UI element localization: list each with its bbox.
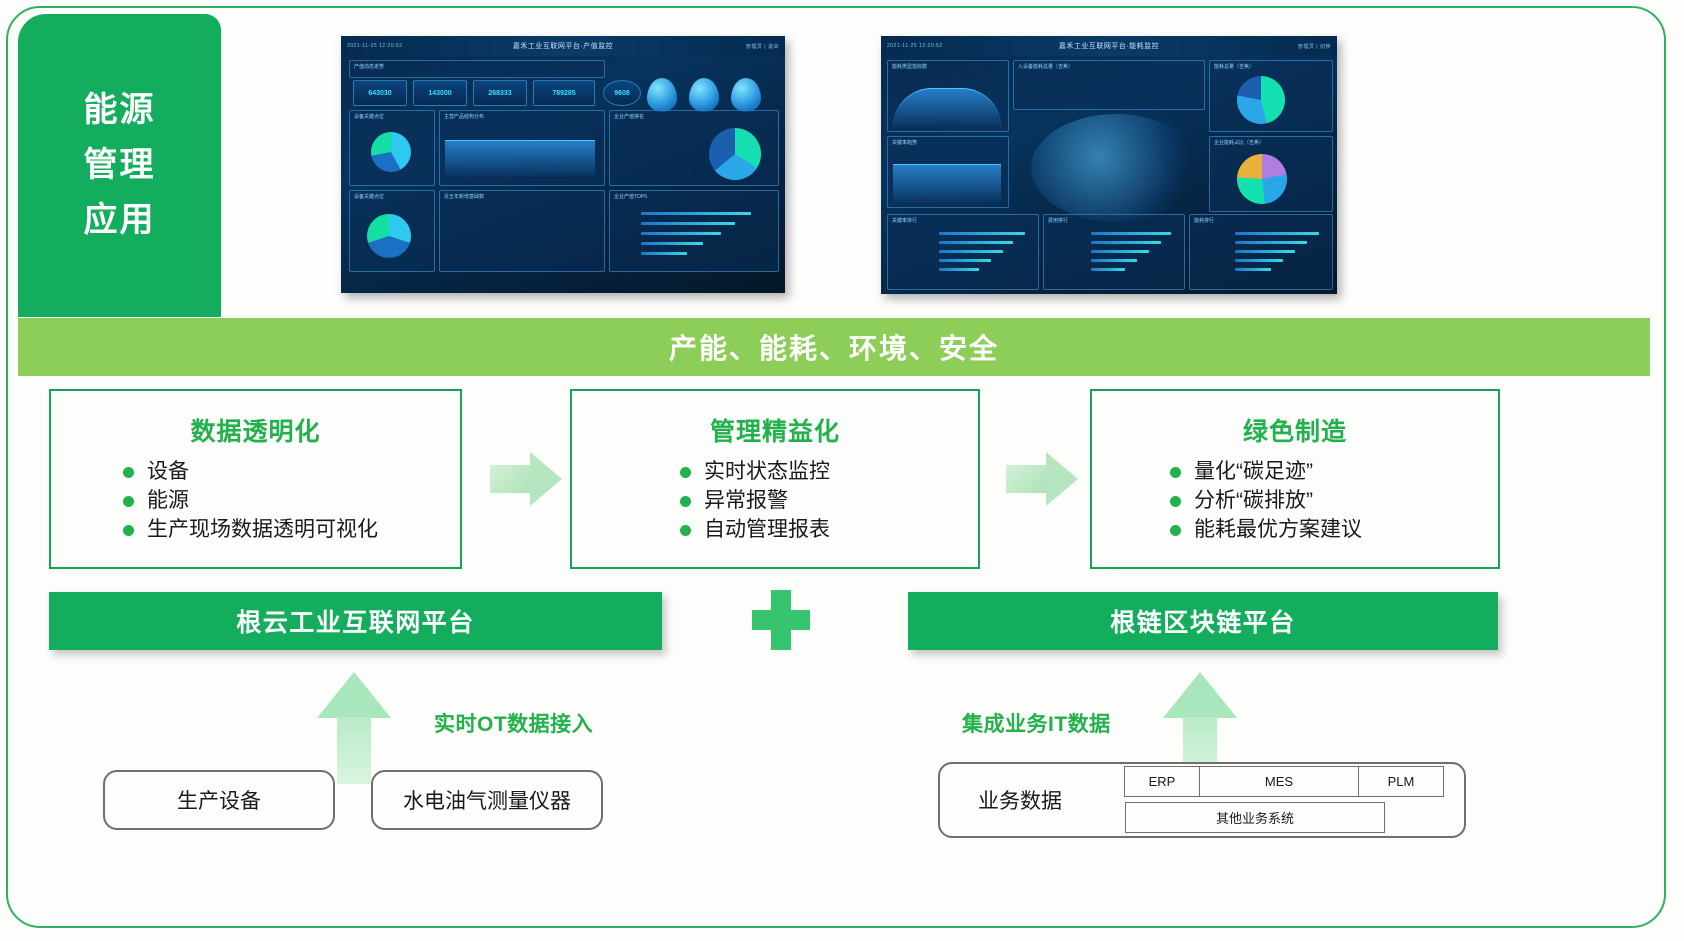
- capability-banner: 产能、能耗、环境、安全: [18, 318, 1650, 376]
- arrow-shaft: [337, 717, 371, 784]
- kpi-1: 643030: [353, 80, 407, 106]
- kpi-4: 789285: [533, 80, 595, 106]
- bar-2: [641, 222, 735, 225]
- flow-label-ot: 实时OT数据接入: [434, 708, 593, 738]
- list-item: 设备: [123, 458, 189, 487]
- source-label: 水电油气测量仪器: [403, 785, 571, 815]
- kpi-5: 9608: [603, 80, 641, 106]
- panel-title: 能耗总量（吉焦）: [1214, 63, 1254, 70]
- kpi-2: 143000: [413, 80, 467, 106]
- panel-title: 能耗排行: [1194, 217, 1214, 224]
- dashboard-screenshot-energy: 2021-11-25 12:20:52 嘉禾工业互联网平台·能耗监控 管理员 |…: [881, 36, 1337, 294]
- droplet-icon-3: [731, 78, 761, 112]
- screenshot-header: 2021-11-25 12:20:52 嘉禾工业互联网平台·能耗监控 管理员 |…: [881, 36, 1337, 56]
- area-chart-1: [445, 140, 595, 177]
- bar-r2: [1235, 241, 1307, 244]
- bar-r5: [1235, 268, 1271, 271]
- panel-top5: 企业产值TOP5: [609, 190, 779, 272]
- bar-r3: [1235, 250, 1295, 253]
- source-box-production-equipment: 生产设备: [103, 770, 335, 830]
- screenshot-header-left: 2021-11-25 12:20:52: [887, 43, 943, 49]
- donut-chart-energy-2: [1237, 154, 1287, 204]
- side-panel-line-3: 应用: [84, 193, 156, 248]
- list-item: 自动管理报表: [680, 516, 830, 545]
- plus-icon: [752, 590, 810, 650]
- droplet-icon-1: [647, 78, 677, 112]
- panel-title: 能耗类型指标数: [892, 63, 927, 70]
- screenshot-title: 嘉禾工业互联网平台·产值监控: [513, 41, 613, 51]
- list-item: 能源: [123, 487, 189, 516]
- side-panel-line-1: 能源: [84, 83, 156, 138]
- panel-device-energy-total: 入设备能耗总量（吉焦）: [1013, 60, 1205, 110]
- platform-bar-genyun: 根云工业互联网平台: [49, 592, 662, 650]
- diagram-canvas: 能源 管理 应用 2021-11-25 12:20:52 嘉禾工业互联网平台·产…: [0, 0, 1684, 941]
- bar-c4: [1091, 259, 1137, 262]
- card-bullet-list: 实时状态监控 异常报警 自动管理报表: [572, 458, 978, 545]
- card-bullet-list: 量化“碳足迹” 分析“碳排放” 能耗最优方案建议: [1092, 458, 1498, 545]
- droplet-icon-2: [689, 78, 719, 112]
- bar-e4: [939, 259, 991, 262]
- bar-3: [641, 232, 721, 235]
- bar-c3: [1091, 250, 1149, 253]
- card-title: 数据透明化: [51, 412, 460, 448]
- system-cell-other: 其他业务系统: [1125, 802, 1385, 833]
- panel-title: 产值动态走势: [354, 63, 384, 70]
- card-title: 绿色制造: [1092, 412, 1498, 448]
- panel-title: 近五年新增基础数: [444, 193, 484, 200]
- platform-bar-genlian: 根链区块链平台: [908, 592, 1498, 650]
- side-panel-line-2: 管理: [84, 138, 156, 193]
- bar-r4: [1235, 259, 1283, 262]
- donut-chart-1: [371, 132, 411, 172]
- bar-c1: [1091, 232, 1171, 235]
- donut-chart-3: [367, 214, 411, 258]
- card-green-manufacturing: 绿色制造 量化“碳足迹” 分析“碳排放” 能耗最优方案建议: [1090, 389, 1500, 569]
- screenshot-header-right: 管理员 | 退出: [746, 43, 779, 50]
- arrow-head: [317, 672, 391, 718]
- bar-e3: [939, 250, 1003, 253]
- map-blob: [1031, 114, 1201, 222]
- area-chart-energy-2: [893, 164, 1001, 203]
- bar-e2: [939, 241, 1013, 244]
- flow-arrow-right-2: [1006, 452, 1078, 506]
- card-data-transparency: 数据透明化 设备 能源 生产现场数据透明可视化: [49, 389, 462, 569]
- platform-label: 根云工业互联网平台: [236, 603, 475, 639]
- card-bullet-list: 设备 能源 生产现场数据透明可视化: [51, 458, 460, 545]
- donut-chart-energy-1: [1237, 76, 1285, 124]
- arrow-head: [530, 452, 562, 506]
- arrow-head: [1046, 452, 1078, 506]
- list-item: 能耗最优方案建议: [1170, 516, 1362, 545]
- source-box-utility-meters: 水电油气测量仪器: [371, 770, 603, 830]
- list-item: 异常报警: [680, 487, 788, 516]
- business-systems-grid: ERP MES PLM 其他业务系统: [1125, 766, 1445, 834]
- banner-text: 产能、能耗、环境、安全: [669, 327, 999, 367]
- panel-title: 企业产值TOP5: [614, 193, 647, 200]
- arrow-head: [1163, 672, 1237, 718]
- system-cell-plm: PLM: [1358, 766, 1444, 797]
- panel-title: 关键率排行: [892, 217, 917, 224]
- panel-title: 设备关键点位: [354, 113, 384, 120]
- side-panel-energy-management-application: 能源 管理 应用: [18, 14, 221, 317]
- flow-label-it: 集成业务IT数据: [962, 708, 1111, 738]
- system-cell-mes: MES: [1199, 766, 1359, 797]
- bar-4: [641, 242, 703, 245]
- flow-arrow-up-ot: [317, 672, 391, 784]
- panel-five-year-base: 近五年新增基础数: [439, 190, 605, 272]
- list-item: 生产现场数据透明可视化: [123, 516, 378, 545]
- panel-title: 设备关键点位: [354, 193, 384, 200]
- platform-label: 根链区块链平台: [1110, 603, 1296, 639]
- bar-c2: [1091, 241, 1161, 244]
- list-item: 分析“碳排放”: [1170, 487, 1313, 516]
- screenshot-header-left: 2021-11-25 12:20:52: [347, 43, 403, 49]
- panel-title: 企业能耗占比（吉焦）: [1214, 139, 1264, 146]
- panel-title: 企业产值排名: [614, 113, 644, 120]
- bar-5: [641, 252, 687, 255]
- panel-title: 主营产品结构分布: [444, 113, 484, 120]
- screenshot-header: 2021-11-25 12:20:52 嘉禾工业互联网平台·产值监控 管理员 |…: [341, 36, 785, 56]
- flow-arrow-right-1: [490, 452, 562, 506]
- bar-e5: [939, 268, 979, 271]
- screenshot-header-right: 管理员 | 切换: [1298, 43, 1331, 50]
- source-label: 生产设备: [177, 785, 261, 815]
- panel-title: 入设备能耗总量（吉焦）: [1018, 63, 1073, 70]
- dashboard-screenshot-production: 2021-11-25 12:20:52 嘉禾工业互联网平台·产值监控 管理员 |…: [341, 36, 785, 293]
- panel-title: 费用排行: [1048, 217, 1068, 224]
- card-lean-management: 管理精益化 实时状态监控 异常报警 自动管理报表: [570, 389, 980, 569]
- donut-chart-2: [709, 128, 761, 180]
- kpi-3: 268333: [473, 80, 527, 106]
- bar-c5: [1091, 268, 1125, 271]
- panel-production-trend: 产值动态走势: [349, 60, 605, 78]
- list-item: 量化“碳足迹”: [1170, 458, 1313, 487]
- bar-1: [641, 212, 751, 215]
- arrow-shaft: [490, 465, 534, 493]
- card-title: 管理精益化: [572, 412, 978, 448]
- arrow-shaft: [1006, 465, 1050, 493]
- bar-r1: [1235, 232, 1319, 235]
- panel-title: 关键率趋势: [892, 139, 917, 146]
- screenshot-title: 嘉禾工业互联网平台·能耗监控: [1059, 41, 1159, 51]
- bar-e1: [939, 232, 1025, 235]
- source-label: 业务数据: [978, 785, 1062, 815]
- business-systems-row: ERP MES PLM: [1125, 766, 1445, 797]
- list-item: 实时状态监控: [680, 458, 830, 487]
- system-cell-erp: ERP: [1124, 766, 1200, 797]
